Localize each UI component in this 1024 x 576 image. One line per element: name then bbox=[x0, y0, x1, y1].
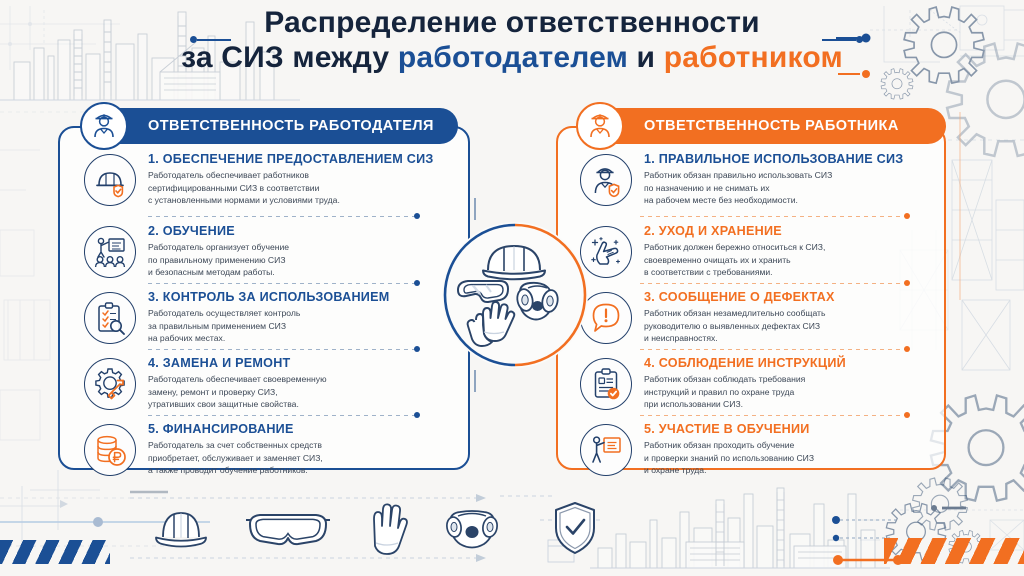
worker-item-3-desc: Работник обязан незамедлительно сообщать… bbox=[644, 307, 835, 345]
separator bbox=[640, 283, 906, 284]
worker-item-3-title: 3. СООБЩЕНИЕ О ДЕФЕКТАХ bbox=[644, 290, 835, 304]
worker-item-4[interactable]: 4. СОБЛЮДЕНИЕ ИНСТРУКЦИЙ Работник обязан… bbox=[580, 356, 952, 411]
safety-goggles-icon bbox=[246, 504, 330, 557]
title-line2-employer: работодателем bbox=[398, 41, 628, 74]
presenter-board-icon bbox=[580, 424, 632, 476]
separator bbox=[148, 216, 416, 217]
title-line-2: за СИЗ между работодателем и работником bbox=[0, 41, 1024, 76]
employer-item-4-desc: Работодатель обеспечивает своевременную … bbox=[148, 373, 327, 411]
safety-glove-icon bbox=[364, 501, 408, 560]
separator bbox=[640, 415, 906, 416]
training-board-people-icon bbox=[84, 226, 136, 278]
separator bbox=[148, 283, 416, 284]
worker-item-4-desc: Работник обязан соблюдать требования инс… bbox=[644, 373, 846, 411]
separator bbox=[640, 216, 906, 217]
worker-panel-header-label: ОТВЕТСТВЕННОСТЬ РАБОТНИКА bbox=[644, 118, 899, 134]
employer-item-2-title: 2. ОБУЧЕНИЕ bbox=[148, 224, 289, 238]
employer-item-5-title: 5. ФИНАНСИРОВАНИЕ bbox=[148, 422, 323, 436]
infographic-canvas: Распределение ответственности за СИЗ меж… bbox=[0, 0, 1024, 576]
hazard-stripes-left bbox=[0, 540, 110, 564]
worker-item-5-desc: Работник обязан проходить обучение и про… bbox=[644, 439, 814, 477]
safety-goggles-icon bbox=[458, 281, 508, 302]
separator bbox=[148, 349, 416, 350]
title-decor-left bbox=[190, 36, 231, 43]
title-line2-part-a: за СИЗ между bbox=[181, 41, 398, 74]
title-line2-worker: работником bbox=[664, 41, 843, 74]
worker-item-1[interactable]: 1. ПРАВИЛЬНОЕ ИСПОЛЬЗОВАНИЕ СИЗ Работник… bbox=[580, 152, 952, 207]
title-dot-left-icon bbox=[190, 36, 197, 43]
employer-item-3[interactable]: 3. КОНТРОЛЬ ЗА ИСПОЛЬЗОВАНИЕМ Работодате… bbox=[84, 290, 464, 345]
center-ppe-circle bbox=[442, 222, 588, 368]
bottom-ppe-strip bbox=[150, 500, 598, 561]
title-decor-right bbox=[822, 36, 863, 43]
employer-item-1-title: 1. ОБЕСПЕЧЕНИЕ ПРЕДОСТАВЛЕНИЕМ СИЗ bbox=[148, 152, 434, 166]
employer-panel-header-label: ОТВЕТСТВЕННОСТЬ РАБОТОДАТЕЛЯ bbox=[148, 118, 434, 134]
clipboard-magnifier-icon bbox=[84, 292, 136, 344]
employer-panel-header: ОТВЕТСТВЕННОСТЬ РАБОТОДАТЕЛЯ bbox=[86, 108, 458, 144]
title-line2-conj: и bbox=[628, 41, 664, 74]
separator-dot bbox=[414, 412, 420, 418]
worker-item-2-title: 2. УХОД И ХРАНЕНИЕ bbox=[644, 224, 825, 238]
worker-item-2-desc: Работник должен бережно относиться к СИЗ… bbox=[644, 241, 825, 279]
separator-dot bbox=[414, 280, 420, 286]
employer-item-2-desc: Работодатель организует обучение по прав… bbox=[148, 241, 289, 279]
respirator-mask-icon bbox=[515, 283, 559, 320]
worker-helmet-icon bbox=[576, 102, 624, 150]
respirator-mask-icon bbox=[442, 504, 502, 557]
worker-panel-header: ОТВЕТСТВЕННОСТЬ РАБОТНИКА bbox=[582, 108, 946, 144]
employer-item-3-title: 3. КОНТРОЛЬ ЗА ИСПОЛЬЗОВАНИЕМ bbox=[148, 290, 389, 304]
worker-item-1-desc: Работник обязан правильно использовать С… bbox=[644, 169, 903, 207]
shield-check-icon bbox=[552, 500, 598, 561]
employer-item-1[interactable]: 1. ОБЕСПЕЧЕНИЕ ПРЕДОСТАВЛЕНИЕМ СИЗ Работ… bbox=[84, 152, 464, 207]
employer-item-4-title: 4. ЗАМЕНА И РЕМОНТ bbox=[148, 356, 327, 370]
employer-item-5-desc: Работодатель за счет собственных средств… bbox=[148, 439, 323, 477]
worker-item-3[interactable]: 3. СООБЩЕНИЕ О ДЕФЕКТАХ Работник обязан … bbox=[580, 290, 952, 345]
hazard-stripes-right bbox=[884, 538, 1024, 564]
page-title: Распределение ответственности за СИЗ меж… bbox=[0, 6, 1024, 76]
worker-shield-check-icon bbox=[580, 154, 632, 206]
worker-item-2[interactable]: 2. УХОД И ХРАНЕНИЕ Работник должен береж… bbox=[580, 224, 952, 279]
separator-dot bbox=[904, 213, 910, 219]
worker-helmet-icon bbox=[80, 102, 128, 150]
employer-item-1-desc: Работодатель обеспечивает работников сер… bbox=[148, 169, 434, 207]
employer-item-3-desc: Работодатель осуществляет контроль за пр… bbox=[148, 307, 389, 345]
title-line-left-icon bbox=[197, 39, 231, 41]
helmet-shield-check-icon bbox=[84, 154, 136, 206]
separator-dot bbox=[904, 280, 910, 286]
employer-item-5[interactable]: 5. ФИНАНСИРОВАНИЕ Работодатель за счет с… bbox=[84, 422, 464, 477]
worker-item-1-title: 1. ПРАВИЛЬНОЕ ИСПОЛЬЗОВАНИЕ СИЗ bbox=[644, 152, 903, 166]
separator-dot bbox=[904, 346, 910, 352]
center-connector-bottom-left bbox=[474, 370, 476, 392]
employer-item-4[interactable]: 4. ЗАМЕНА И РЕМОНТ Работодатель обеспечи… bbox=[84, 356, 464, 411]
safety-gloves-icon bbox=[468, 302, 515, 346]
coins-ruble-icon bbox=[84, 424, 136, 476]
separator-dot bbox=[414, 213, 420, 219]
separator-dot bbox=[904, 412, 910, 418]
title-line-1: Распределение ответственности bbox=[0, 6, 1024, 41]
separator-dot bbox=[414, 346, 420, 352]
separator bbox=[148, 415, 416, 416]
gear-wrench-icon bbox=[84, 358, 136, 410]
worker-item-5-title: 5. УЧАСТИЕ В ОБУЧЕНИИ bbox=[644, 422, 814, 436]
worker-item-4-title: 4. СОБЛЮДЕНИЕ ИНСТРУКЦИЙ bbox=[644, 356, 846, 370]
hard-hat-icon bbox=[150, 503, 212, 558]
separator bbox=[640, 349, 906, 350]
hard-hat-icon bbox=[483, 246, 545, 279]
employer-item-2[interactable]: 2. ОБУЧЕНИЕ Работодатель организует обуч… bbox=[84, 224, 464, 279]
title-line-right-icon bbox=[822, 39, 856, 41]
worker-item-5[interactable]: 5. УЧАСТИЕ В ОБУЧЕНИИ Работник обязан пр… bbox=[580, 422, 952, 477]
center-connector-top-left bbox=[474, 198, 476, 220]
title-dot-right-icon bbox=[856, 36, 863, 43]
